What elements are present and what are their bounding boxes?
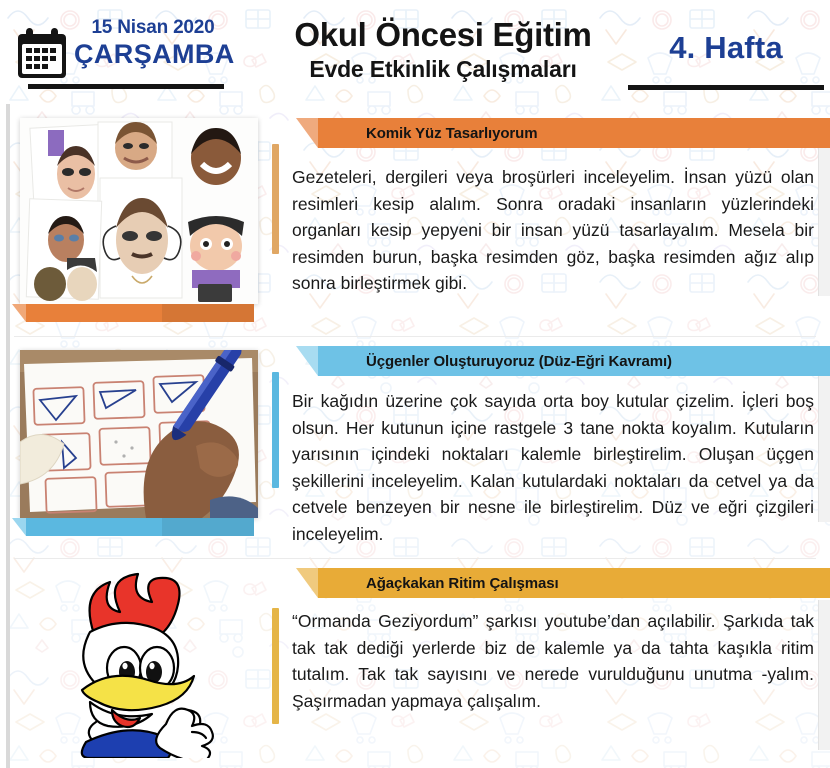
cut-out-faces-collage-photo [20, 118, 258, 304]
section-separator [14, 336, 816, 337]
section-separator [14, 558, 816, 559]
date-underline [28, 84, 224, 89]
date-weekday: ÇARŞAMBA [74, 39, 232, 69]
date-text: 15 Nisan 2020 ÇARŞAMBA [74, 16, 232, 69]
calendar-icon [16, 26, 68, 80]
section-banner: Üçgenler Oluşturuyoruz (Düz-Eğri Kavramı… [318, 346, 830, 376]
week-label: 4. Hafta [628, 28, 824, 68]
activity-section: Komik Yüz Tasarlıyorum Gezeteleri, dergi… [0, 108, 830, 338]
activity-section: Üçgenler Oluşturuyoruz (Düz-Eğri Kavramı… [0, 340, 830, 562]
section-banner: Komik Yüz Tasarlıyorum [318, 118, 830, 148]
section-accent-bar [272, 372, 279, 488]
section-title: Üçgenler Oluşturuyoruz (Düz-Eğri Kavramı… [366, 353, 672, 370]
section-body: “Ormanda Geziyordum” şarkısı youtube’dan… [292, 608, 814, 714]
section-title: Ağaçkakan Ritim Çalışması [366, 575, 559, 592]
section-body: Gezeteleri, dergileri veya broşürleri in… [292, 164, 814, 297]
page-header: 15 Nisan 2020 ÇARŞAMBA Okul Öncesi Eğiti… [0, 0, 830, 104]
section-title: Komik Yüz Tasarlıyorum [366, 125, 537, 142]
page-edge-sliver [818, 146, 830, 296]
section-accent-bar [272, 608, 279, 724]
date-day: 15 Nisan 2020 [74, 16, 232, 40]
date-block: 15 Nisan 2020 ÇARŞAMBA [14, 16, 232, 94]
hand-drawing-triangles-photo [20, 350, 258, 518]
media-ribbon [26, 518, 254, 536]
section-accent-bar [272, 144, 279, 254]
woodpecker-cartoon-illustration [20, 572, 258, 758]
page-edge-sliver [818, 600, 830, 750]
title-main: Okul Öncesi Eğitim [258, 16, 628, 54]
media-ribbon [26, 304, 254, 322]
week-underline [628, 85, 824, 90]
page-edge-sliver [818, 372, 830, 522]
week-block: 4. Hafta [628, 28, 824, 68]
worksheet-page: 15 Nisan 2020 ÇARŞAMBA Okul Öncesi Eğiti… [0, 0, 830, 768]
section-banner: Ağaçkakan Ritim Çalışması [318, 568, 830, 598]
activity-section: Ağaçkakan Ritim Çalışması “Ormanda Geziy… [0, 562, 830, 768]
page-title: Okul Öncesi Eğitim Evde Etkinlik Çalışma… [258, 16, 628, 83]
title-subtitle: Evde Etkinlik Çalışmaları [258, 55, 628, 83]
section-body: Bir kağıdın üzerine çok sayıda orta boy … [292, 388, 814, 547]
